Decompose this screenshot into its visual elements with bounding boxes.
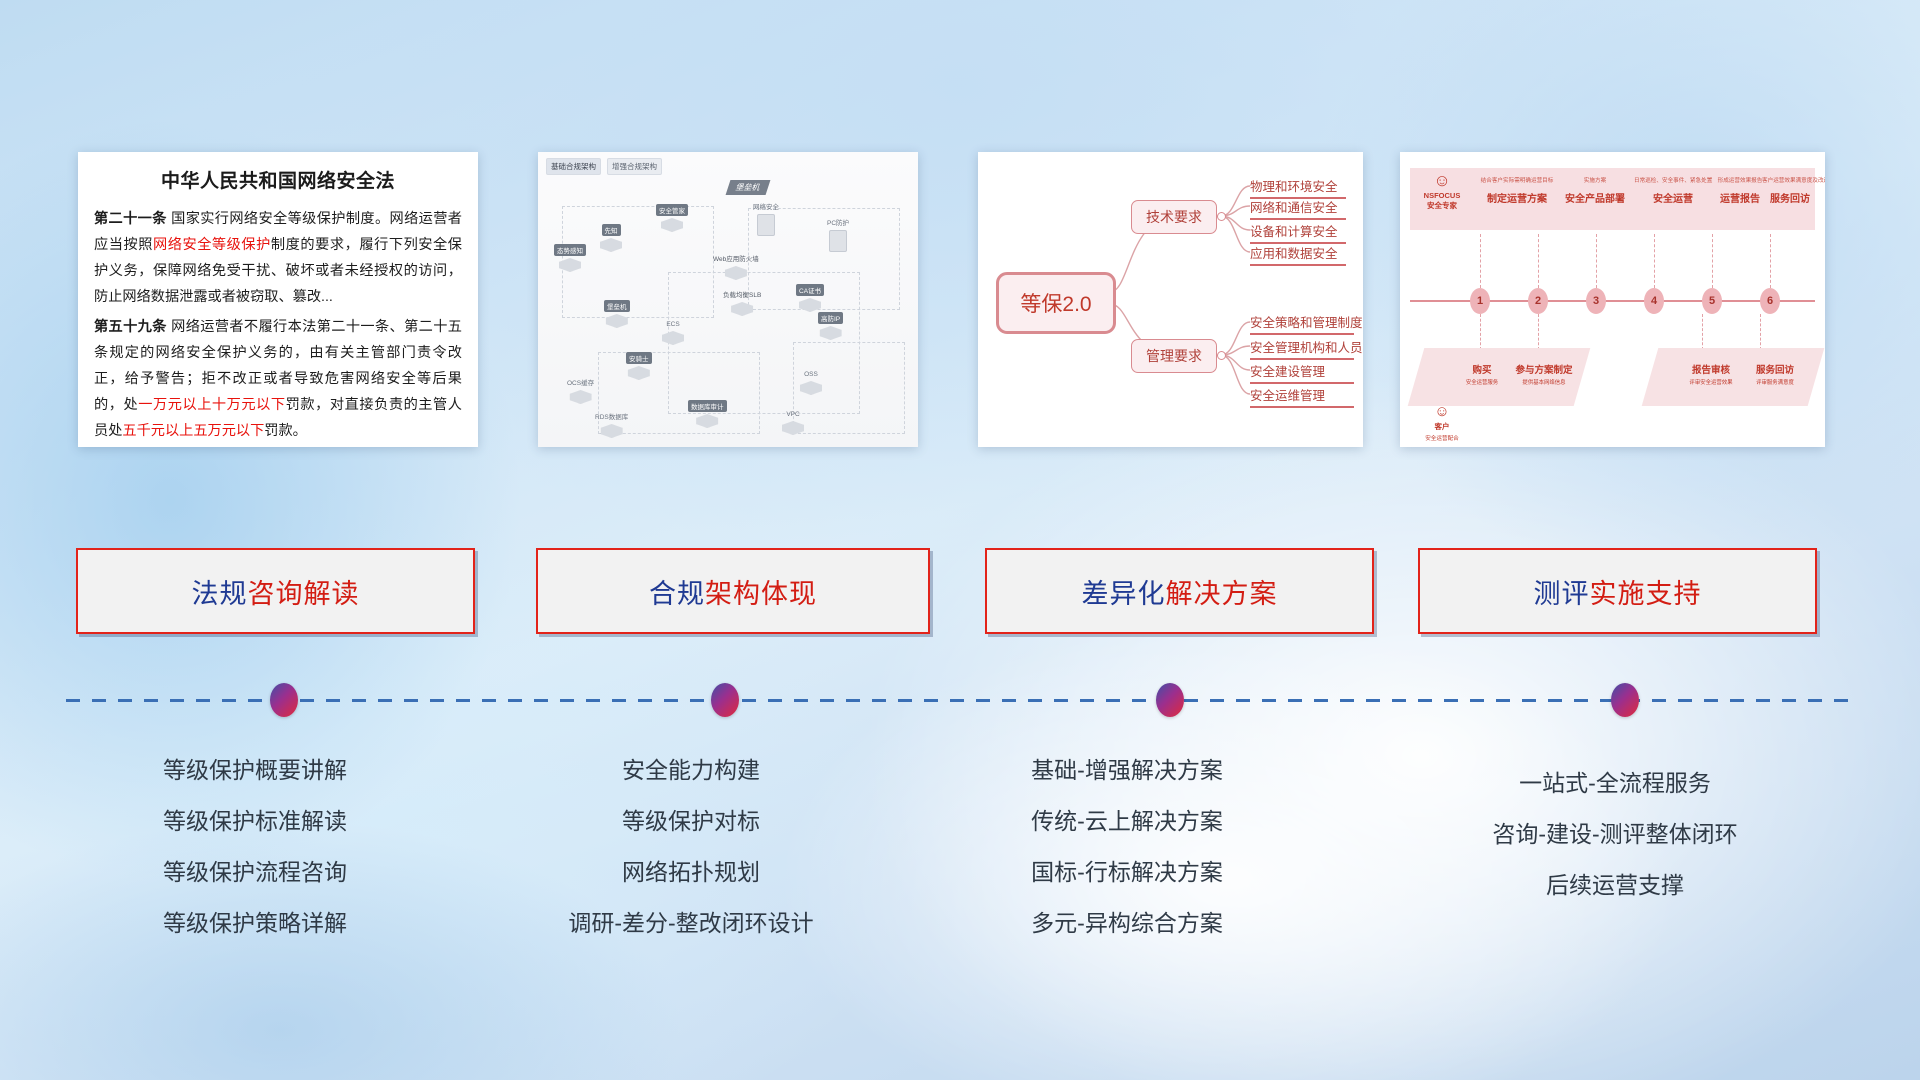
heading-suffix: 实施支持 [1590,572,1702,611]
nsfocus-expert-avatar: ☺ NSFOCUS 安全专家 [1416,172,1468,211]
heading-box-differentiated-solution[interactable]: 差异化解决方案 [985,548,1374,634]
law-title: 中华人民共和国网络安全法 [94,166,462,193]
nsfocus-tick [1538,234,1540,288]
architecture-canvas: 基础合规架构 增强合规架构 堡垒机 安全管家 先知 态势感知 堡垒机 ECS 安… [538,152,918,447]
nsfocus-canvas: ☺ NSFOCUS 安全专家 结合客户实际需明确运营目标制定运营方案 实施方案安… [1400,152,1825,447]
nsfocus-tick [1480,234,1482,288]
architecture-node-xianzhi: 先知 [600,224,622,252]
mindmap-branch-technical: 技术要求 [1131,200,1217,234]
nsfocus-step: 客户运营效果满意度及改进建议收集服务回访 [1762,176,1818,205]
card-architecture-diagram: 基础合规架构 增强合规架构 堡垒机 安全管家 先知 态势感知 堡垒机 ECS 安… [538,152,918,447]
architecture-node-db-audit: 数据库审计 [688,400,727,428]
mindmap-node-dot [1217,351,1226,360]
mindmap-canvas: 等保2.0 技术要求 物理和环境安全 网络和通信安全 设备和计算安全 应用和数据… [978,152,1363,447]
law-article-label-2: 第五十九条 [94,319,167,335]
nsfocus-customer-action: 服务回访评审服务满意度 [1740,362,1810,386]
customer-icon: ☺ [1416,404,1468,419]
heading-box-evaluation-support[interactable]: 测评实施支持 [1418,548,1817,634]
heading-prefix: 差异化 [1082,572,1166,611]
architecture-node-network-security: 网络安全 [750,200,782,236]
heading-prefix: 测评 [1534,572,1590,611]
list-item: 安全能力构建 [476,745,906,796]
law-seg-highlight: 五千元以上五万元以下 [122,423,264,439]
heading-suffix: 咨询解读 [248,572,360,611]
mindmap-branch-management: 管理要求 [1131,339,1217,373]
heading-suffix: 架构体现 [705,572,817,611]
heading-prefix: 合规 [649,572,705,611]
timeline-dot-3 [1156,683,1184,717]
list-item: 等级保护对标 [476,796,906,847]
list-item: 网络拓扑规划 [476,847,906,898]
mindmap-node-dot [1217,212,1226,221]
nsfocus-customer-action: 购买安全运营服务 [1454,362,1510,386]
mindmap-leaf: 安全建设管理 [1250,361,1354,384]
nsfocus-customer-role: 客户 [1416,421,1468,432]
architecture-tab-basic[interactable]: 基础合规架构 [546,158,601,175]
card-law-document: 中华人民共和国网络安全法 第二十一条 国家实行网络安全等级保护制度。网络运营者应… [78,152,478,447]
nsfocus-step-number: 2 [1528,288,1548,314]
nsfocus-customer-avatar: ☺ 客户 安全运营配合 [1416,404,1468,442]
architecture-node-anti-ddos: 高防IP [818,312,843,340]
screenshot-card-row: 中华人民共和国网络安全法 第二十一条 国家实行网络安全等级保护制度。网络运营者应… [0,0,1920,460]
architecture-node-anqishi: 安骑士 [626,352,652,380]
slide-canvas: 中华人民共和国网络安全法 第二十一条 国家实行网络安全等级保护制度。网络运营者应… [0,0,1920,1080]
list-item: 咨询-建设-测评整体闭环 [1380,809,1850,860]
architecture-node-situational-awareness: 态势感知 [554,244,586,272]
architecture-node-pc-protection: PC防护 [824,216,852,252]
timeline-dot-4 [1611,683,1639,717]
nsfocus-tick [1702,314,1704,350]
law-article-label-1: 第二十一条 [94,211,167,227]
nsfocus-step-number: 5 [1702,288,1722,314]
law-seg-highlight: 网络安全等级保护 [153,237,271,253]
list-item: 基础-增强解决方案 [912,745,1342,796]
law-paragraph-1: 第二十一条 国家实行网络安全等级保护制度。网络运营者应当按照网络安全等级保护制度… [94,206,462,310]
card-mindmap: 等保2.0 技术要求 物理和环境安全 网络和通信安全 设备和计算安全 应用和数据… [978,152,1363,447]
detail-list-row: 等级保护概要讲解 等级保护标准解读 等级保护流程咨询 等级保护策略详解 安全能力… [0,745,1920,1005]
detail-column-4: 一站式-全流程服务 咨询-建设-测评整体闭环 后续运营支撑 [1380,745,1850,911]
nsfocus-customer-action: 参与方案制定提供基本网络信息 [1506,362,1582,386]
architecture-node-rds: RDS数据库 [592,410,631,438]
list-item: 一站式-全流程服务 [1380,758,1850,809]
nsfocus-tick [1654,234,1656,288]
list-item: 多元-异构综合方案 [912,898,1342,949]
architecture-node-oss: OSS [800,370,822,395]
timeline-dot-2 [711,683,739,717]
nsfocus-customer-note: 安全运营配合 [1416,434,1468,442]
nsfocus-step: 实施方案安全产品部署 [1556,176,1634,205]
heading-box-compliance-architecture[interactable]: 合规架构体现 [536,548,930,634]
mindmap-root-node: 等保2.0 [996,272,1116,334]
list-item: 等级保护策略详解 [40,898,470,949]
mindmap-leaf: 安全管理机构和人员 [1250,337,1354,360]
timeline-dashed-line [66,699,1854,702]
list-item: 调研-差分-整改闭环设计 [476,898,906,949]
heading-row: 法规咨询解读 合规架构体现 差异化解决方案 测评实施支持 [0,548,1920,648]
mindmap-leaf: 应用和数据安全 [1250,243,1346,266]
law-seg: 罚款。 [264,423,307,439]
architecture-node-waf: Web应用防火墙 [710,252,762,280]
architecture-node-ca-cert: CA证书 [796,284,824,312]
nsfocus-tick [1596,234,1598,288]
heading-box-regulation-consulting[interactable]: 法规咨询解读 [76,548,475,634]
list-item: 等级保护概要讲解 [40,745,470,796]
list-item: 传统-云上解决方案 [912,796,1342,847]
mindmap-leaf: 网络和通信安全 [1250,197,1346,220]
nsfocus-tick [1770,234,1772,288]
timeline-dot-1 [270,683,298,717]
nsfocus-step: 形成运营效果报告运营报告 [1712,176,1768,205]
architecture-node-vpc: VPC [782,410,804,435]
person-icon: ☺ [1416,172,1468,189]
card-nsfocus-timeline: ☺ NSFOCUS 安全专家 结合客户实际需明确运营目标制定运营方案 实施方案安… [1400,152,1825,447]
architecture-node-bastion: 堡垒机 [604,300,630,328]
mindmap-leaf: 安全运维管理 [1250,385,1354,408]
detail-column-2: 安全能力构建 等级保护对标 网络拓扑规划 调研-差分-整改闭环设计 [476,745,906,949]
architecture-node-slb: 负载均衡SLB [720,288,764,316]
architecture-node-security-butler: 安全管家 [656,204,688,232]
mindmap-leaf: 设备和计算安全 [1250,221,1346,244]
architecture-node-ecs: ECS [662,320,684,345]
mindmap-leaf: 物理和环境安全 [1250,176,1346,199]
nsfocus-brand-line1: NSFOCUS [1416,191,1468,200]
nsfocus-step-number: 6 [1760,288,1780,314]
nsfocus-customer-action: 报告审核评审安全运营效果 [1676,362,1746,386]
nsfocus-tick [1480,314,1482,350]
list-item: 后续运营支撑 [1380,860,1850,911]
nsfocus-step-number: 3 [1586,288,1606,314]
architecture-tabs: 基础合规架构 增强合规架构 [546,158,662,175]
architecture-banner: 堡垒机 [726,180,771,195]
nsfocus-step-number: 1 [1470,288,1490,314]
architecture-tab-enhanced[interactable]: 增强合规架构 [607,158,662,175]
detail-column-1: 等级保护概要讲解 等级保护标准解读 等级保护流程咨询 等级保护策略详解 [40,745,470,949]
heading-suffix: 解决方案 [1166,572,1278,611]
architecture-node-ocs-cache: OCS缓存 [564,376,597,404]
nsfocus-step-number: 4 [1644,288,1664,314]
nsfocus-tick [1538,314,1540,350]
nsfocus-brand-line2: 安全专家 [1416,200,1468,211]
heading-prefix: 法规 [192,572,248,611]
law-paragraph-2: 第五十九条 网络运营者不履行本法第二十一条、第二十五条规定的网络安全保护义务的，… [94,314,462,444]
law-seg-highlight: 一万元以上十万元以下 [138,397,285,413]
mindmap-leaf: 安全策略和管理制度 [1250,312,1354,335]
nsfocus-step: 日常巡检、安全事件、紧急处置安全运营 [1634,176,1712,205]
list-item: 等级保护流程咨询 [40,847,470,898]
list-item: 国标-行标解决方案 [912,847,1342,898]
list-item: 等级保护标准解读 [40,796,470,847]
nsfocus-tick [1760,314,1762,350]
detail-column-3: 基础-增强解决方案 传统-云上解决方案 国标-行标解决方案 多元-异构综合方案 [912,745,1342,949]
nsfocus-tick [1712,234,1714,288]
law-body: 中华人民共和国网络安全法 第二十一条 国家实行网络安全等级保护制度。网络运营者应… [78,152,478,447]
nsfocus-step: 结合客户实际需明确运营目标制定运营方案 [1478,176,1556,205]
